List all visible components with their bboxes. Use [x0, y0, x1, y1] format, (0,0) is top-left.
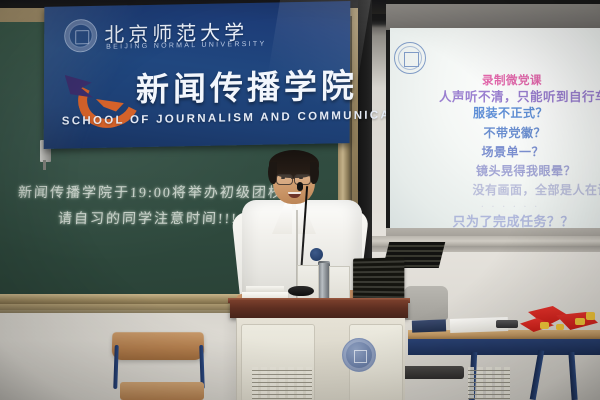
desk-device — [496, 320, 518, 328]
slide-bnu-seal-icon — [394, 42, 426, 74]
side-chair-seat — [396, 366, 464, 379]
slide-line-4: 不带党徽？ — [483, 124, 546, 141]
podium-vent-right — [468, 367, 510, 399]
yellow-accent-2 — [556, 324, 564, 330]
podium-top — [230, 300, 408, 318]
glasses-lens-left — [276, 174, 293, 185]
classroom-photo: 新闻传播学院于19:00将举办初级团校 请自习的同学注意时间!!! 北京师范大学… — [0, 0, 600, 400]
classroom-chair-seat — [120, 382, 204, 400]
slide-line-5: 场景单一？ — [481, 143, 544, 160]
glasses-bridge — [291, 178, 295, 179]
desk-notebook — [412, 319, 446, 332]
classroom-chair-back — [112, 332, 205, 360]
projection-screen: 录制微党课 人声听不清，只能听到自行车 服装不正式？ 不带党徽？ 场景单一？ 镜… — [390, 28, 600, 228]
microphone-base — [288, 286, 314, 296]
speaker-jacket-badge — [310, 248, 323, 261]
podium-bnu-emblem-icon — [342, 338, 376, 372]
podium-black-equipment — [353, 257, 404, 303]
side-chair-back — [404, 286, 448, 320]
banner-clip-arm — [43, 160, 46, 170]
slide-ellipsis: · · · · · · — [481, 202, 540, 211]
chalk-text-line-2: 请自习的同学注意时间!!! — [57, 208, 238, 228]
slide-line-7: 没有画面，全部是人在讲 — [472, 181, 600, 198]
projection-screen-top-bar — [386, 4, 600, 30]
podium-body — [236, 318, 405, 400]
bnu-seal-icon — [64, 19, 97, 53]
slide-line-2: 人声听不清，只能听到自行车 — [439, 86, 600, 105]
microphone-head-icon — [297, 182, 303, 191]
department-banner: 北京师范大学 BEIJING NORMAL UNIVERSITY 新闻传播学院 … — [44, 1, 351, 149]
slide-line-6: 镜头晃得我眼晕？ — [476, 162, 576, 179]
speaker-hair-right — [310, 162, 319, 184]
yellow-accent-3 — [575, 318, 585, 325]
podium-door-left — [241, 324, 315, 400]
school-logo-icon — [66, 65, 128, 114]
banner-school-cn: 新闻传播学院 — [136, 59, 358, 111]
yellow-accent-1 — [540, 322, 549, 329]
slide-line-3: 服装不正式？ — [473, 104, 548, 121]
podium-vent-left — [252, 367, 312, 399]
yellow-accent-4 — [586, 312, 595, 320]
